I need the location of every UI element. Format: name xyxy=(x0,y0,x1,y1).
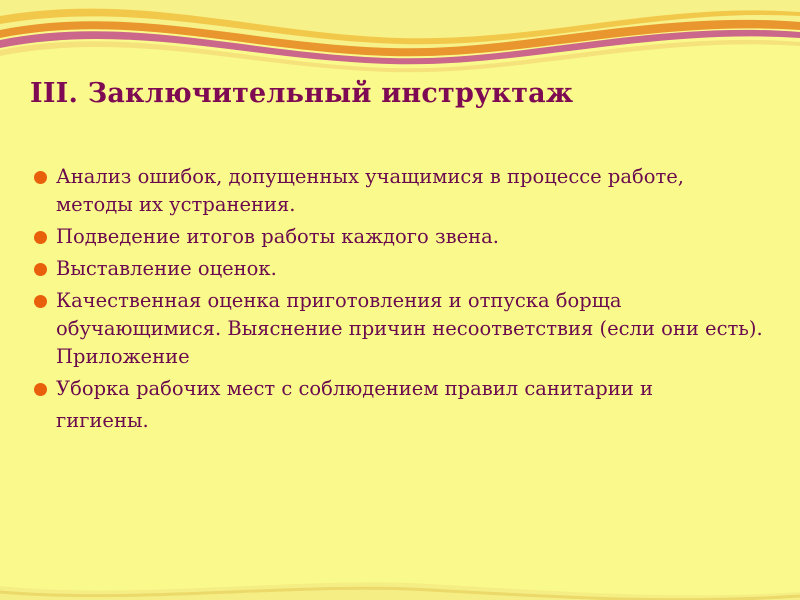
bullet-dot-placeholder-icon xyxy=(34,415,47,428)
slide: III. Заключительный инструктаж Анализ ош… xyxy=(0,0,800,600)
list-item-text: Выставление оценок. xyxy=(56,255,764,283)
list-item: Качественная оценка приготовления и отпу… xyxy=(34,287,764,371)
page-title: III. Заключительный инструктаж xyxy=(30,78,770,109)
list-item-text: Анализ ошибок, допущенных учащимися в пр… xyxy=(56,163,764,219)
list-item: Выставление оценок. xyxy=(34,255,764,283)
list-item: Уборка рабочих мест с соблюдением правил… xyxy=(34,375,764,403)
bullet-dot-icon xyxy=(34,231,47,244)
bullet-dot-icon xyxy=(34,383,47,396)
list-item-text: Уборка рабочих мест с соблюдением правил… xyxy=(56,375,764,403)
list-item: Подведение итогов работы каждого звена. xyxy=(34,223,764,251)
bullet-dot-icon xyxy=(34,263,47,276)
bullet-dot-icon xyxy=(34,171,47,184)
list-item-text: Подведение итогов работы каждого звена. xyxy=(56,223,764,251)
bullet-list: Анализ ошибок, допущенных учащимися в пр… xyxy=(34,163,764,439)
list-item-continuation: гигиены. xyxy=(34,407,764,435)
list-item-text: Качественная оценка приготовления и отпу… xyxy=(56,287,764,371)
list-item-text: гигиены. xyxy=(56,407,764,435)
list-item: Анализ ошибок, допущенных учащимися в пр… xyxy=(34,163,764,219)
bullet-dot-icon xyxy=(34,295,47,308)
